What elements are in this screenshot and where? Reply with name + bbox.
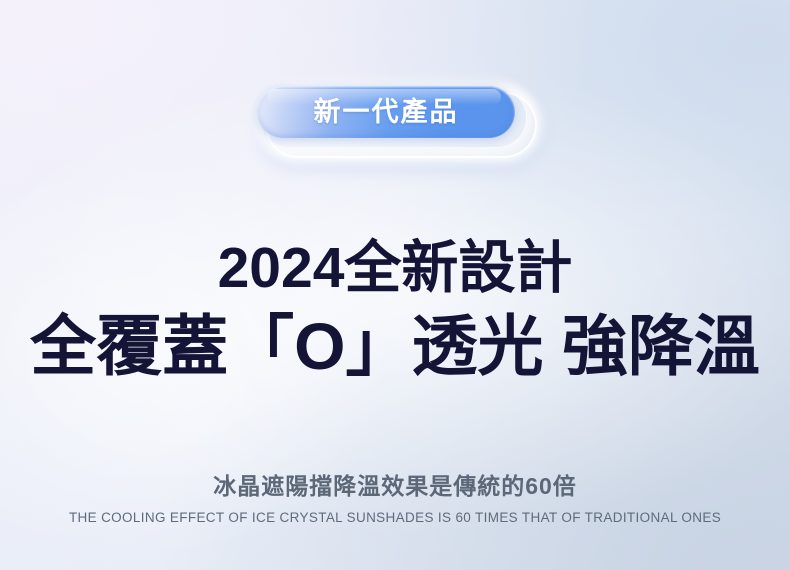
badge-pill[interactable]: 新一代產品 (257, 86, 515, 138)
new-generation-badge[interactable]: 新一代產品 (257, 86, 533, 158)
subtitle-chinese: 冰晶遮陽擋降溫效果是傳統的60倍 (0, 467, 790, 501)
badge-label: 新一代產品 (314, 99, 459, 126)
hero-banner: 新一代產品 2024全新設計 全覆蓋「O」透光 強降溫 冰晶遮陽擋降溫效果是傳統… (0, 0, 790, 570)
page-title: 2024全新設計 全覆蓋「O」透光 強降溫 (0, 238, 790, 383)
headline-line-2: 全覆蓋「O」透光 強降溫 (0, 310, 790, 384)
badge-container: 新一代產品 (0, 86, 790, 158)
headline-line-1: 2024全新設計 (0, 238, 790, 300)
subtitle-english: THE COOLING EFFECT OF ICE CRYSTAL SUNSHA… (0, 510, 790, 525)
